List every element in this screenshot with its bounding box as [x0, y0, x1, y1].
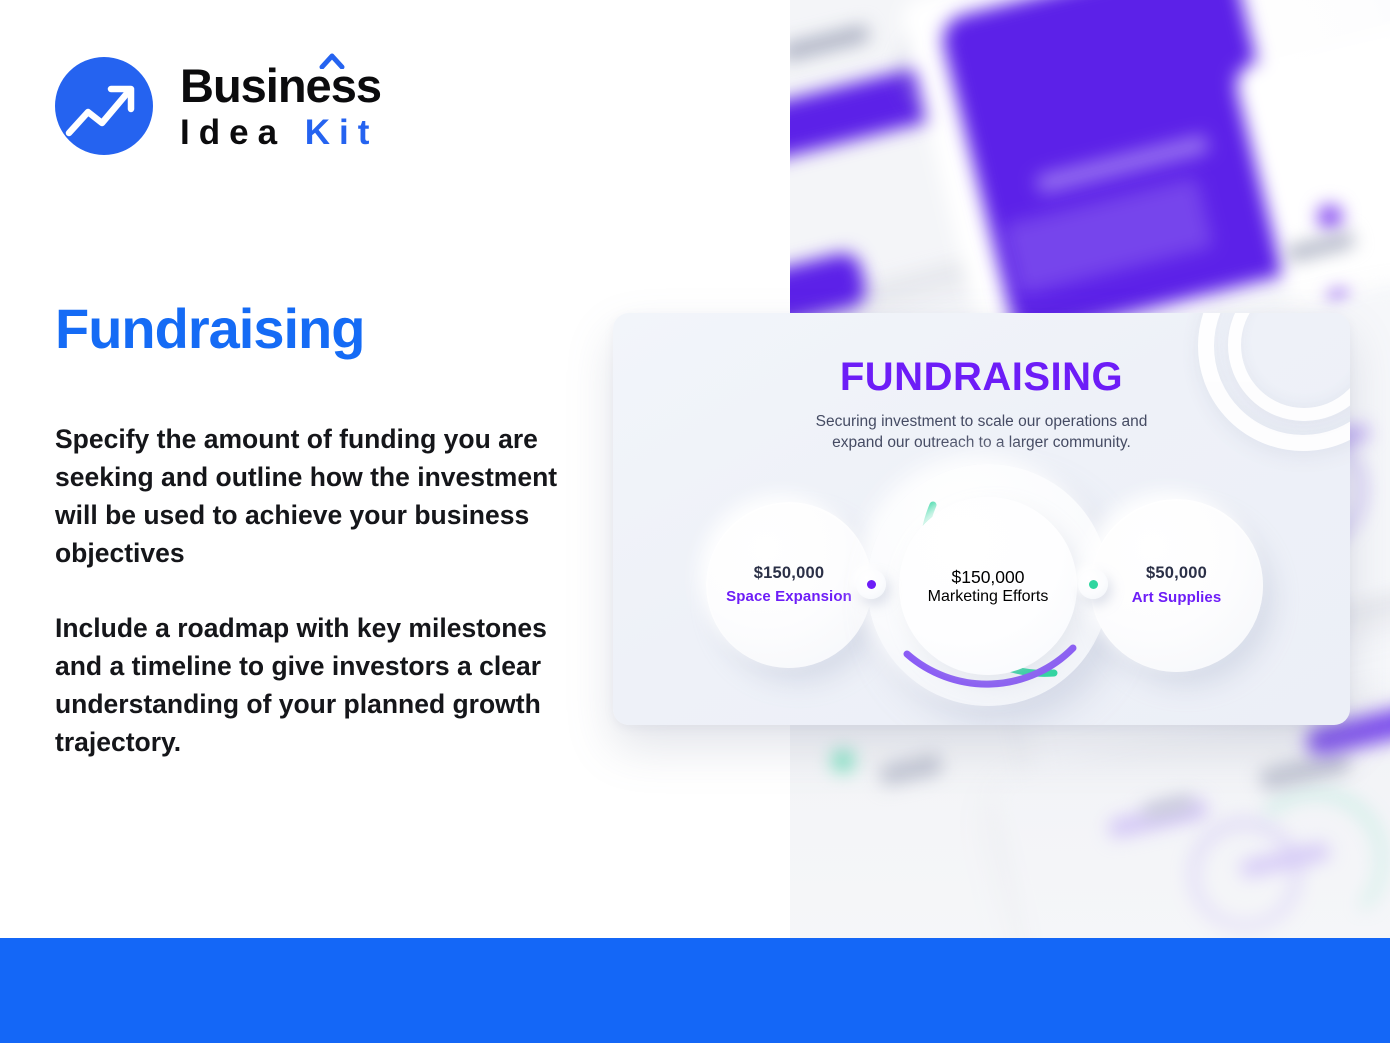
- bg-slide-dot-teal: [832, 750, 854, 772]
- funding-diagram: $150,000 Space Expansion $150,000 Market…: [613, 313, 1350, 725]
- left-connector-node: [856, 569, 886, 599]
- body-paragraph-2: Include a roadmap with key milestones an…: [55, 609, 567, 761]
- bg-slide-bar-4: [1107, 799, 1208, 839]
- funding-node-marketing-efforts[interactable]: $150,000 Marketing Efforts: [899, 497, 1077, 675]
- brand-logo[interactable]: Business Idea Kit: [55, 57, 381, 155]
- bg-slide-title-2: [1035, 134, 1209, 194]
- bg-slide-caption-3: [1284, 232, 1355, 263]
- left-connector-dot-icon: [867, 580, 876, 589]
- bg-slide-caption-6: [1141, 794, 1195, 819]
- bg-slide-caption-5: [879, 753, 944, 786]
- bg-slide-bar-1: [790, 52, 993, 163]
- bg-slide-bar-5: [1239, 842, 1331, 879]
- bg-slide-purple-panel: [938, 0, 1309, 341]
- body-paragraph-1: Specify the amount of funding you are se…: [55, 420, 567, 572]
- bg-slide-body-2: [1002, 177, 1213, 295]
- slide-preview-card[interactable]: FUNDRAISING Securing investment to scale…: [613, 313, 1350, 725]
- bg-slide-ring-teal: [1245, 790, 1385, 930]
- funding-node-amount: $150,000: [952, 567, 1025, 588]
- funding-node-amount: $50,000: [1146, 563, 1207, 584]
- funding-node-label: Marketing Efforts: [928, 588, 1049, 606]
- bg-slide-card-1: [790, 0, 1025, 325]
- circumflex-accent-icon: [319, 53, 345, 69]
- bg-slide-ring-1: [893, 18, 1000, 125]
- bg-slide-ring-3: [1190, 820, 1300, 930]
- bg-slide-heading-1: [790, 24, 871, 61]
- right-connector-node: [1078, 569, 1108, 599]
- brand-name-kit: Kit: [305, 113, 379, 152]
- funding-node-art-supplies[interactable]: $50,000 Art Supplies: [1090, 499, 1263, 672]
- funding-node-label: Space Expansion: [726, 588, 852, 607]
- right-connector-dot-icon: [1089, 580, 1098, 589]
- funding-node-amount: $150,000: [754, 563, 824, 584]
- brand-name-line-2: Idea Kit: [180, 115, 381, 150]
- brand-wordmark: Business Idea Kit: [180, 62, 381, 150]
- footer-bar: [0, 938, 1390, 1043]
- brand-name-line-1: Business: [180, 62, 381, 109]
- funding-node-label: Art Supplies: [1132, 589, 1222, 608]
- page-title: Fundraising: [55, 296, 364, 361]
- brand-name-idea: Idea: [180, 113, 286, 152]
- bg-slide-caption-7: [1259, 750, 1352, 792]
- trend-arrow-glyph: [55, 57, 153, 155]
- funding-node-space-expansion[interactable]: $150,000 Space Expansion: [706, 502, 872, 668]
- bg-slide-dot-1: [1318, 205, 1342, 229]
- trend-arrow-icon: [55, 57, 153, 155]
- page-root: FUNDRAISING Securing investment to scale…: [0, 0, 1390, 1043]
- brand-name-line-1-text: Business: [180, 59, 381, 112]
- bg-slide-card-3: [1232, 18, 1390, 321]
- bg-slide-dot-2: [1330, 290, 1348, 308]
